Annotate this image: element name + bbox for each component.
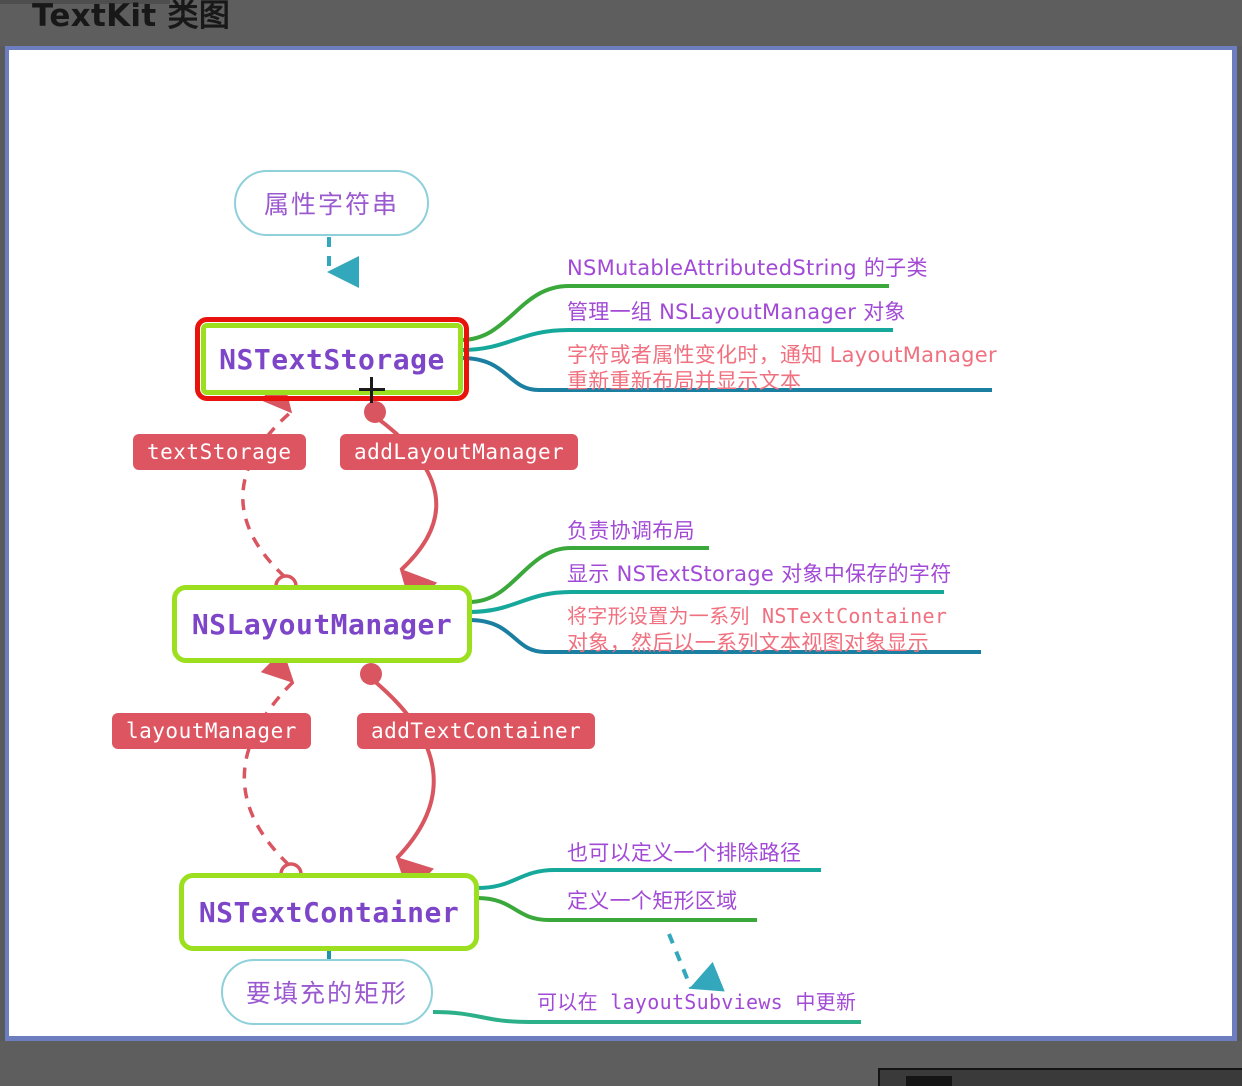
window-title: TextKit 类图 <box>32 0 230 35</box>
wire-layoutmanager-ref <box>244 682 293 865</box>
relation-tag-layoutmanager-label: layoutManager <box>126 719 297 743</box>
wire-container-anno1 <box>477 870 821 888</box>
diagram-canvas[interactable]: 属性字符串 NSTextStorage NSLayoutManager NSTe… <box>9 50 1232 1036</box>
annotation-storage-3-line1: 字符或者属性变化时，通知 LayoutManager <box>567 342 997 369</box>
wire-addtextcontainer-source-dot <box>360 663 382 685</box>
node-attributed-string-label: 属性字符串 <box>264 185 399 221</box>
relation-tag-addlayoutmanager[interactable]: addLayoutManager <box>340 434 578 470</box>
relation-tag-textstorage[interactable]: textStorage <box>133 434 306 470</box>
dock-panel-chip <box>906 1076 952 1086</box>
annotation-layout-1: 负责协调布局 <box>567 518 695 545</box>
node-nslayoutmanager[interactable]: NSLayoutManager <box>172 585 472 663</box>
annotation-storage-3-line2: 重新重新布局并显示文本 <box>567 368 801 395</box>
node-nslayoutmanager-label: NSLayoutManager <box>192 608 452 641</box>
relation-tag-addtextcontainer[interactable]: addTextContainer <box>357 713 595 749</box>
relation-tag-textstorage-label: textStorage <box>147 440 292 464</box>
annotation-layout-3-line1: 将字形设置为一系列 NSTextContainer <box>567 604 947 630</box>
node-nstextstorage-label: NSTextStorage <box>219 343 445 376</box>
node-nstextcontainer-label: NSTextContainer <box>199 896 459 929</box>
annotation-storage-1: NSMutableAttributedString 的子类 <box>567 255 928 282</box>
annotation-storage-2: 管理一组 NSLayoutManager 对象 <box>567 299 906 326</box>
relation-tag-layoutmanager[interactable]: layoutManager <box>112 713 311 749</box>
relation-tag-addtextcontainer-label: addTextContainer <box>371 719 581 743</box>
node-fill-rect[interactable]: 要填充的矩形 <box>221 959 433 1025</box>
wire-container-to-layoutsubviews <box>669 934 691 988</box>
wire-addtextcontainer <box>373 680 434 858</box>
annotation-layout-3-line2: 对象，然后以一系列文本视图对象显示 <box>567 630 929 657</box>
node-nstextcontainer[interactable]: NSTextContainer <box>179 873 479 951</box>
node-attributed-string[interactable]: 属性字符串 <box>234 170 429 236</box>
node-nstextstorage[interactable]: NSTextStorage <box>201 323 463 395</box>
node-fill-rect-label: 要填充的矩形 <box>246 974 408 1010</box>
app-root: TextKit 类图 <box>0 0 1242 1086</box>
annotation-container-2: 定义一个矩形区域 <box>567 888 737 915</box>
wire-addlayoutmanager-source-dot <box>364 401 386 423</box>
relation-tag-addlayoutmanager-label: addLayoutManager <box>354 440 564 464</box>
window-titlebar: TextKit 类图 <box>0 0 1242 46</box>
annotation-rect-1: 可以在 layoutSubviews 中更新 <box>537 990 856 1016</box>
annotation-container-1: 也可以定义一个排除路径 <box>567 840 801 867</box>
background-dock-panel[interactable] <box>878 1068 1242 1086</box>
document-frame: 属性字符串 NSTextStorage NSLayoutManager NSTe… <box>5 46 1237 1041</box>
annotation-layout-2: 显示 NSTextStorage 对象中保存的字符 <box>567 561 952 588</box>
